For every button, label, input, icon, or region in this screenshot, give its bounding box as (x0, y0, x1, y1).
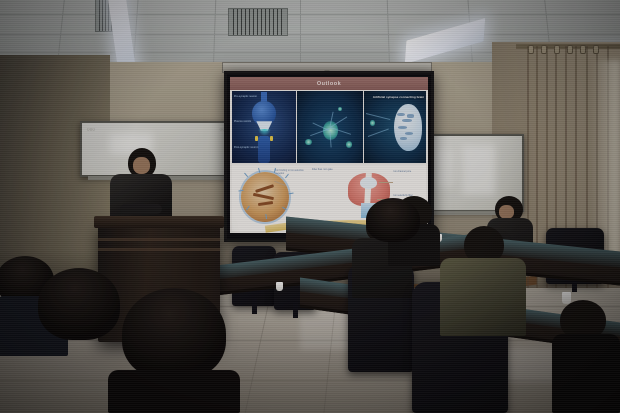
curtain-ring (580, 45, 586, 54)
selectivity-cap (360, 177, 377, 189)
attendee-head-over-screen (366, 198, 420, 242)
attendee-olive-coat (440, 226, 526, 336)
neuron-photo (297, 91, 363, 163)
neuron-glow (338, 107, 342, 111)
artificial-synapse-caption: Artificial synapse connecting brain (373, 95, 424, 99)
receptor-icon (270, 136, 273, 141)
slide-title-bar: Outlook (230, 77, 428, 90)
slide-title-text: Outlook (317, 81, 341, 87)
curtain-ring (541, 45, 547, 54)
curtain-ring (554, 45, 560, 54)
label-post-synaptic: Post-synaptic neuron (234, 146, 262, 149)
annotation-top: Filter flow / ion gate (312, 168, 347, 171)
curtain-ring (528, 45, 534, 54)
attendee-far-right-silhouette (552, 300, 620, 413)
brain-network-photo: Artificial synapse connecting brain (364, 91, 426, 163)
attendee-foreground-center (108, 288, 240, 413)
capsid-annotation: Ion binding to ion-selective receptor (275, 169, 308, 175)
network-node (370, 120, 374, 126)
presenter-folded-arms (120, 204, 162, 214)
whiteboard-left-logo: ◻◻◻ (87, 127, 95, 131)
slide-top-row: Pre-synaptic neuron Plasma vesicle Post-… (232, 91, 426, 163)
neuron-glow (305, 139, 312, 145)
label-pre-synaptic: Pre-synaptic neuron (234, 95, 262, 98)
label-plasma-vesicle: Plasma vesicle (234, 120, 260, 123)
curtain-ring (593, 45, 599, 54)
synapse-diagram: Pre-synaptic neuron Plasma vesicle Post-… (232, 91, 296, 163)
curtain-ring (567, 45, 573, 54)
seminar-room-photo: ◻◻◻ ◻◻ Outlook (0, 0, 620, 413)
paper-cup-left[interactable] (276, 282, 283, 291)
brain-illustration (394, 104, 423, 152)
postsynaptic-neuron (258, 136, 270, 163)
lectern-top (94, 216, 224, 228)
annotation-right-1: Ion channel pore (393, 170, 424, 173)
hvac-vent-center (228, 8, 288, 36)
neuron-glow (346, 141, 353, 147)
